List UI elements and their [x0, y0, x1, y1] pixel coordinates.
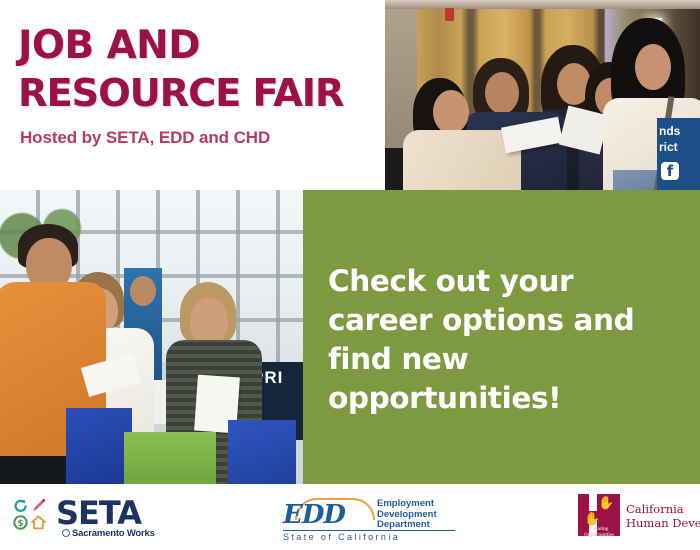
flyer-canvas: JOB AND RESOURCE FAIR Hosted by SETA, ED…: [0, 0, 700, 550]
green-crate: [124, 432, 216, 484]
seta-tagline-text: Sacramento Works: [72, 528, 155, 539]
banner-text-line2: rict: [659, 140, 678, 154]
sponsor-logo-bar: $ SETA Sacramento Works EDD Employment D…: [0, 484, 700, 550]
face: [433, 90, 469, 134]
edd-state-line: State of California: [283, 530, 455, 542]
page-title-line2: RESOURCE FAIR: [18, 70, 375, 118]
svg-text:$: $: [17, 519, 23, 529]
seta-wordmark: SETA: [56, 494, 141, 532]
pencil-icon: [31, 498, 46, 513]
tote-bag-blue-secondary: [228, 420, 296, 484]
face: [190, 298, 228, 346]
seta-icon-cluster: $: [12, 498, 52, 530]
chd-name-line2: Human Development: [626, 516, 700, 530]
facebook-icon: f: [661, 162, 679, 180]
edd-name-line3: Department: [377, 520, 437, 531]
edd-name-line1: Employment: [377, 499, 437, 510]
booth-banner: nds rict f: [657, 118, 700, 190]
photo-job-fair-hall: PRI e Hosp: [0, 190, 303, 484]
house-icon: [31, 515, 46, 530]
callout-text: Check out your career options and find n…: [328, 262, 678, 418]
logo-seta: $ SETA Sacramento Works: [12, 496, 182, 542]
ceiling-trim: [385, 0, 700, 9]
logo-edd: EDD Employment Development Department St…: [283, 498, 458, 540]
chd-name-line1: California: [626, 502, 700, 516]
h-notch-top: [589, 494, 597, 511]
dollar-circle-icon: $: [13, 515, 28, 530]
chd-tagline: Creating Opportunities: [579, 527, 619, 538]
seta-tagline: Sacramento Works: [62, 528, 155, 539]
logo-chd: ✋ ✋ Creating Opportunities California Hu…: [578, 494, 698, 544]
chd-h-mark-icon: ✋ ✋ Creating Opportunities: [578, 494, 620, 536]
edd-agency-name: Employment Development Department: [377, 499, 437, 531]
hand-icon-lower: ✋: [584, 513, 600, 526]
headline-block: JOB AND RESOURCE FAIR Hosted by SETA, ED…: [0, 0, 385, 190]
edd-wordmark: EDD: [283, 500, 345, 530]
circle-bullet-icon: [62, 529, 70, 537]
tote-bag-blue: [66, 408, 132, 484]
banner-text-line1: nds: [659, 124, 680, 138]
photo-students-at-fair: GAP nds rict f: [385, 0, 700, 190]
face: [635, 44, 671, 90]
hand-icon-upper: ✋: [598, 497, 614, 510]
page-title-line1: JOB AND: [18, 22, 375, 70]
chd-tagline-line2: Opportunities: [579, 533, 619, 539]
page-subtitle: Hosted by SETA, EDD and CHD: [20, 128, 375, 148]
top-row: JOB AND RESOURCE FAIR Hosted by SETA, ED…: [0, 0, 700, 190]
fire-alarm-icon: [445, 8, 454, 21]
callout-panel: Check out your career options and find n…: [303, 190, 700, 484]
arrow-circle-icon: [13, 498, 28, 513]
chd-name: California Human Development: [626, 502, 700, 530]
